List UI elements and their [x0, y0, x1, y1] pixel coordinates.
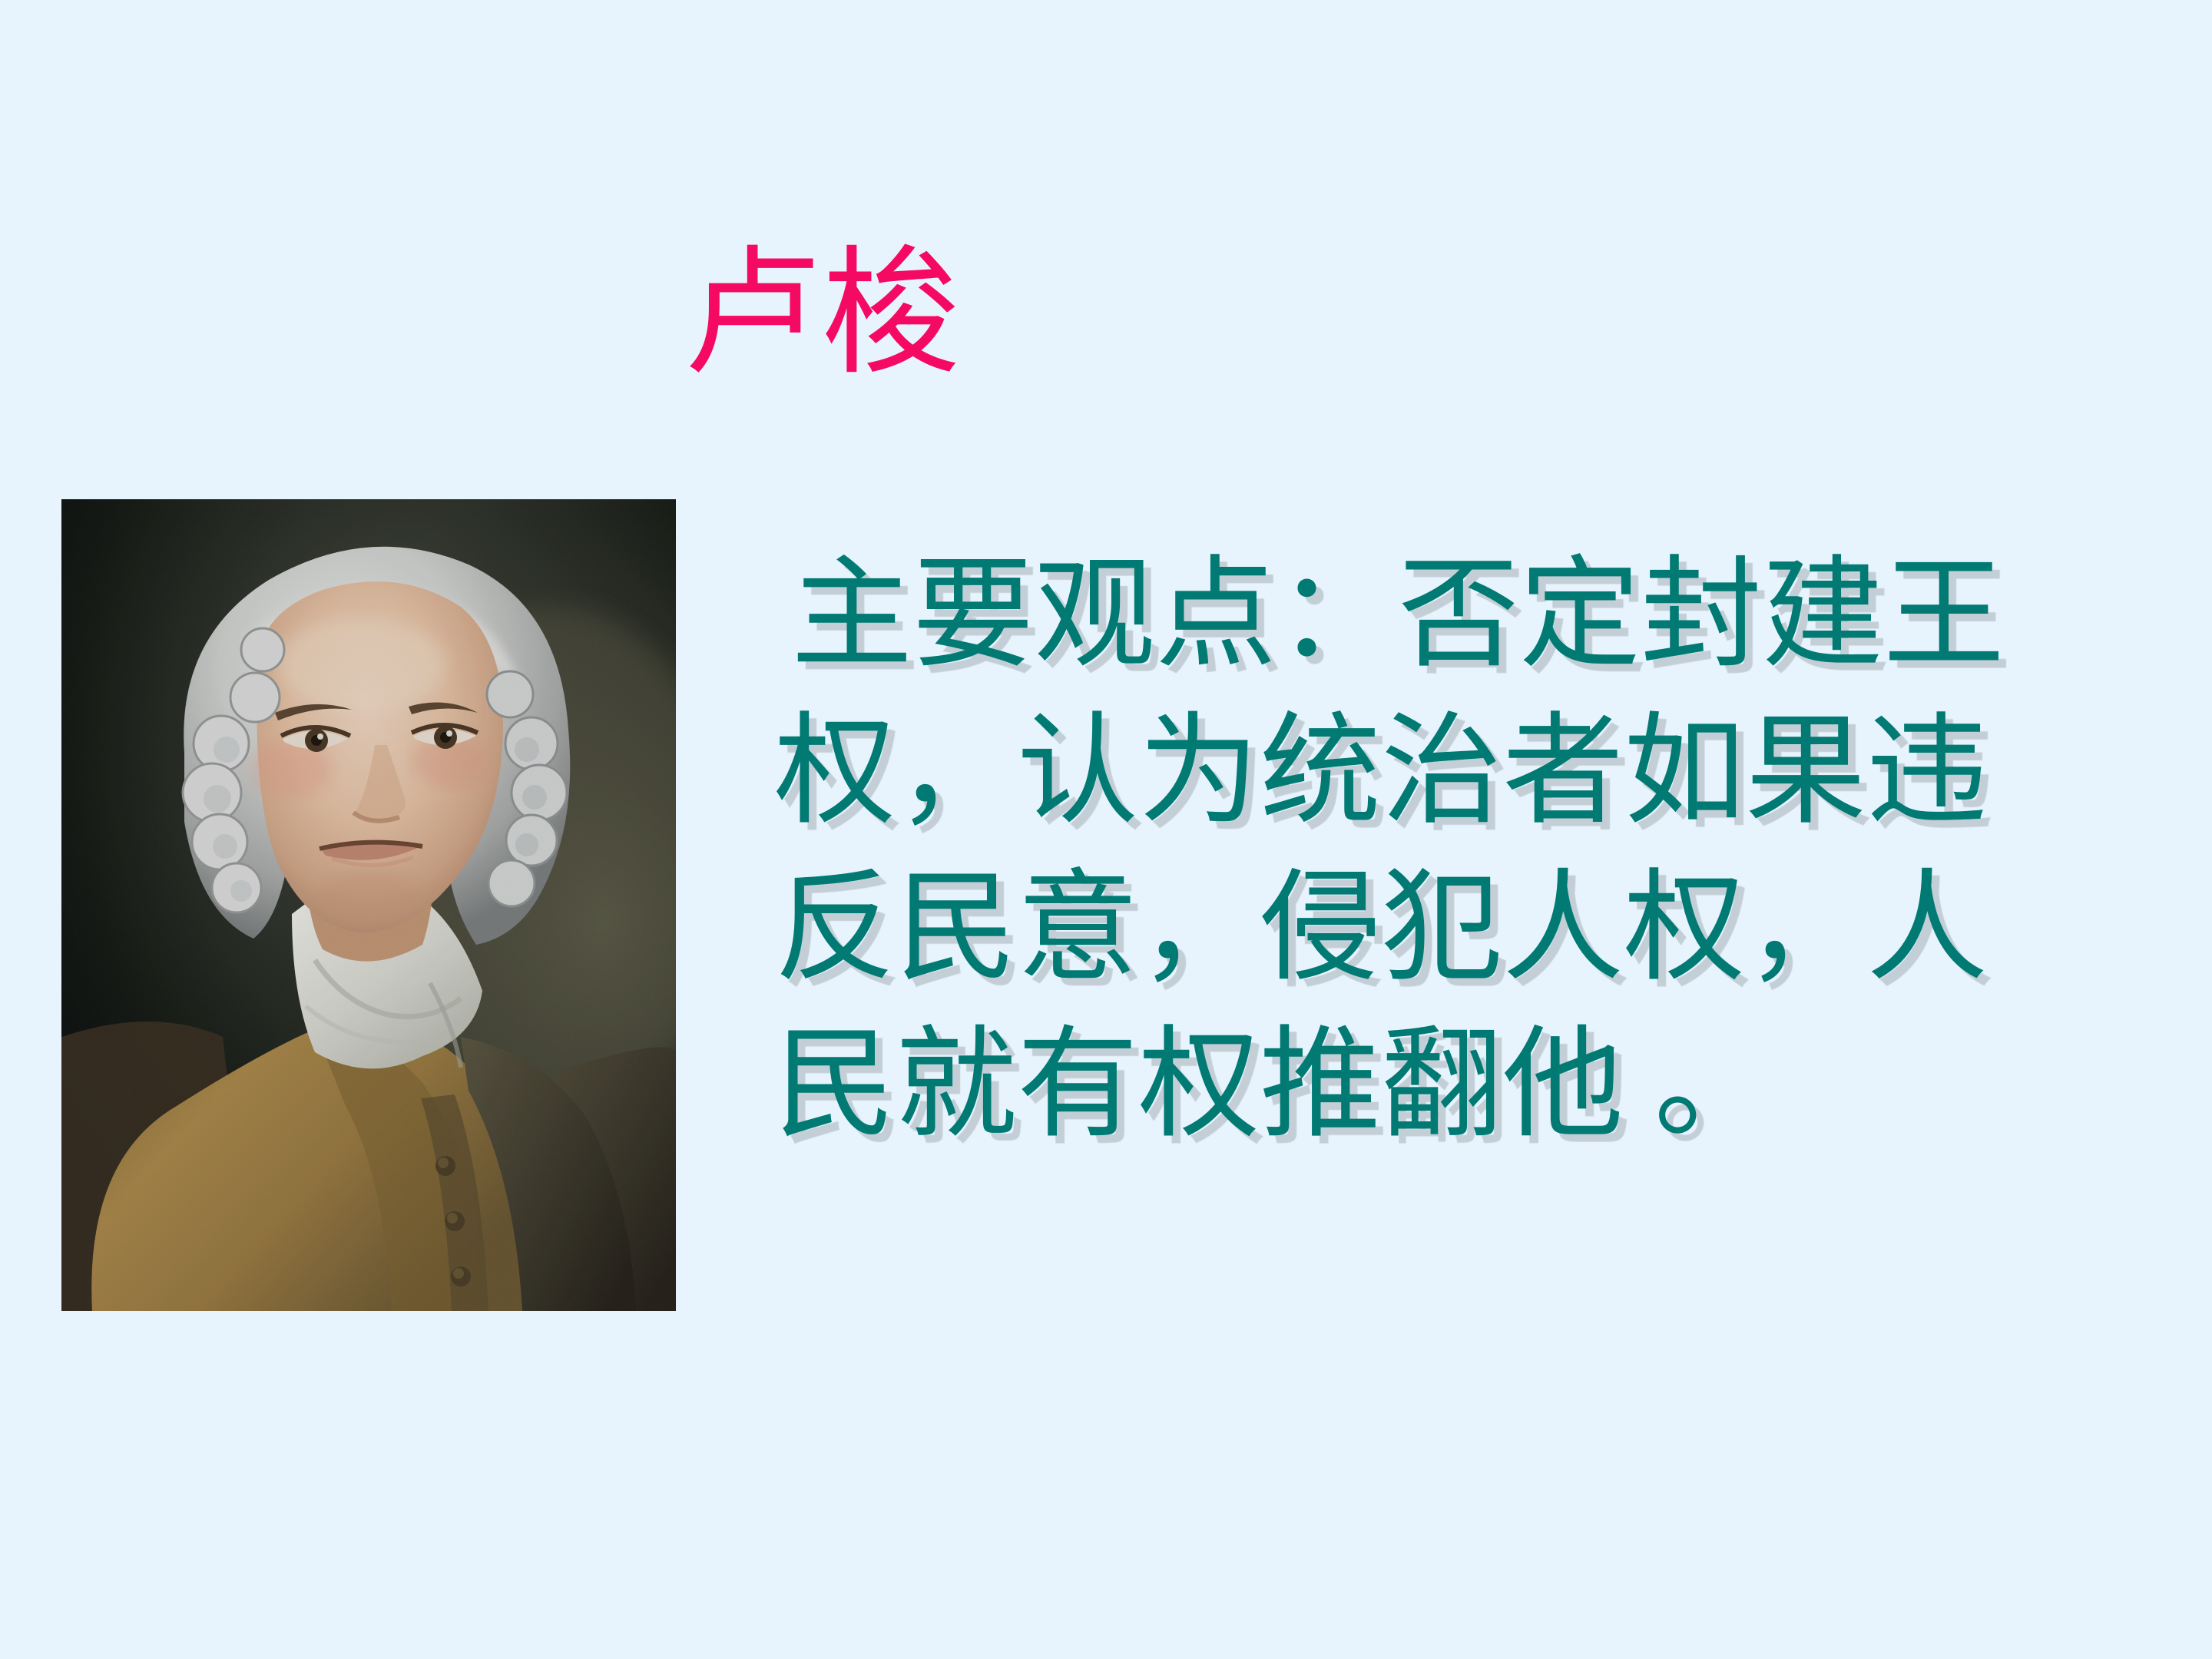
- page-title: 卢梭: [684, 246, 960, 384]
- rousseau-portrait: [61, 499, 676, 1311]
- main-text-block: 主要观点：否定封建王 权，认为统治者如果违 反民意，侵犯人权，人 民就有权推翻他…: [774, 538, 2034, 1164]
- slide-root: 卢梭: [0, 0, 2212, 1659]
- body-line-2: 权，认为统治者如果违: [774, 694, 2034, 851]
- body-line-1: 主要观点：否定封建王: [774, 538, 2034, 694]
- body-line-3: 反民意，侵犯人权，人: [774, 851, 2034, 1008]
- portrait-illustration: [61, 499, 676, 1311]
- body-line-4: 民就有权推翻他 。: [774, 1008, 2034, 1164]
